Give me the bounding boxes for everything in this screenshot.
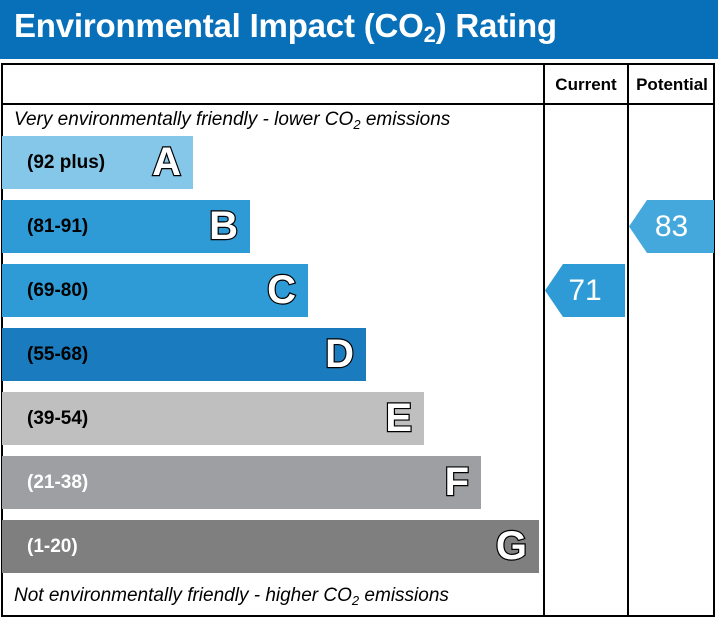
band-range-a: (92 plus) <box>27 136 105 189</box>
rating-band-f: (21-38)F <box>2 456 481 509</box>
band-range-f: (21-38) <box>27 456 88 509</box>
page-title-prefix: Environmental Impact (CO <box>14 7 424 44</box>
band-range-e: (39-54) <box>27 392 88 445</box>
caption-bottom-prefix: Not environmentally friendly - higher CO <box>14 585 352 606</box>
column-separator-current <box>543 63 545 617</box>
page-title-subscript: 2 <box>424 22 436 47</box>
column-header-potential: Potential <box>629 74 715 96</box>
band-letter-b: B <box>209 200 238 253</box>
band-range-c: (69-80) <box>27 264 88 317</box>
rating-band-c: (69-80)C <box>2 264 308 317</box>
epc-environmental-impact-chart: Environmental Impact (CO2) Rating Curren… <box>0 0 718 619</box>
title-bar: Environmental Impact (CO2) Rating <box>0 0 718 59</box>
caption-bottom: Not environmentally friendly - higher CO… <box>14 585 449 607</box>
page-title-suffix: ) Rating <box>436 7 557 44</box>
rating-band-a: (92 plus)A <box>2 136 193 189</box>
caption-bottom-suffix: emissions <box>359 585 449 606</box>
column-header-current: Current <box>545 74 627 96</box>
caption-top-prefix: Very environmentally friendly - lower CO <box>14 109 353 130</box>
rating-band-g: (1-20)G <box>2 520 539 573</box>
rating-band-e: (39-54)E <box>2 392 424 445</box>
caption-bottom-subscript: 2 <box>352 593 359 608</box>
page-title: Environmental Impact (CO2) Rating <box>14 7 557 45</box>
band-letter-f: F <box>445 456 469 509</box>
caption-top-subscript: 2 <box>353 117 360 132</box>
band-range-d: (55-68) <box>27 328 88 381</box>
band-range-g: (1-20) <box>27 520 78 573</box>
rating-band-d: (55-68)D <box>2 328 366 381</box>
band-letter-a: A <box>152 136 181 189</box>
potential-rating-arrow: 83 <box>629 200 714 253</box>
caption-top: Very environmentally friendly - lower CO… <box>14 109 450 131</box>
header-row-rule <box>1 103 715 105</box>
rating-band-b: (81-91)B <box>2 200 250 253</box>
band-letter-e: E <box>385 392 412 445</box>
band-letter-c: C <box>267 264 296 317</box>
band-range-b: (81-91) <box>27 200 88 253</box>
band-letter-g: G <box>496 520 527 573</box>
column-separator-potential <box>627 63 629 617</box>
band-letter-d: D <box>325 328 354 381</box>
caption-top-suffix: emissions <box>361 109 451 130</box>
